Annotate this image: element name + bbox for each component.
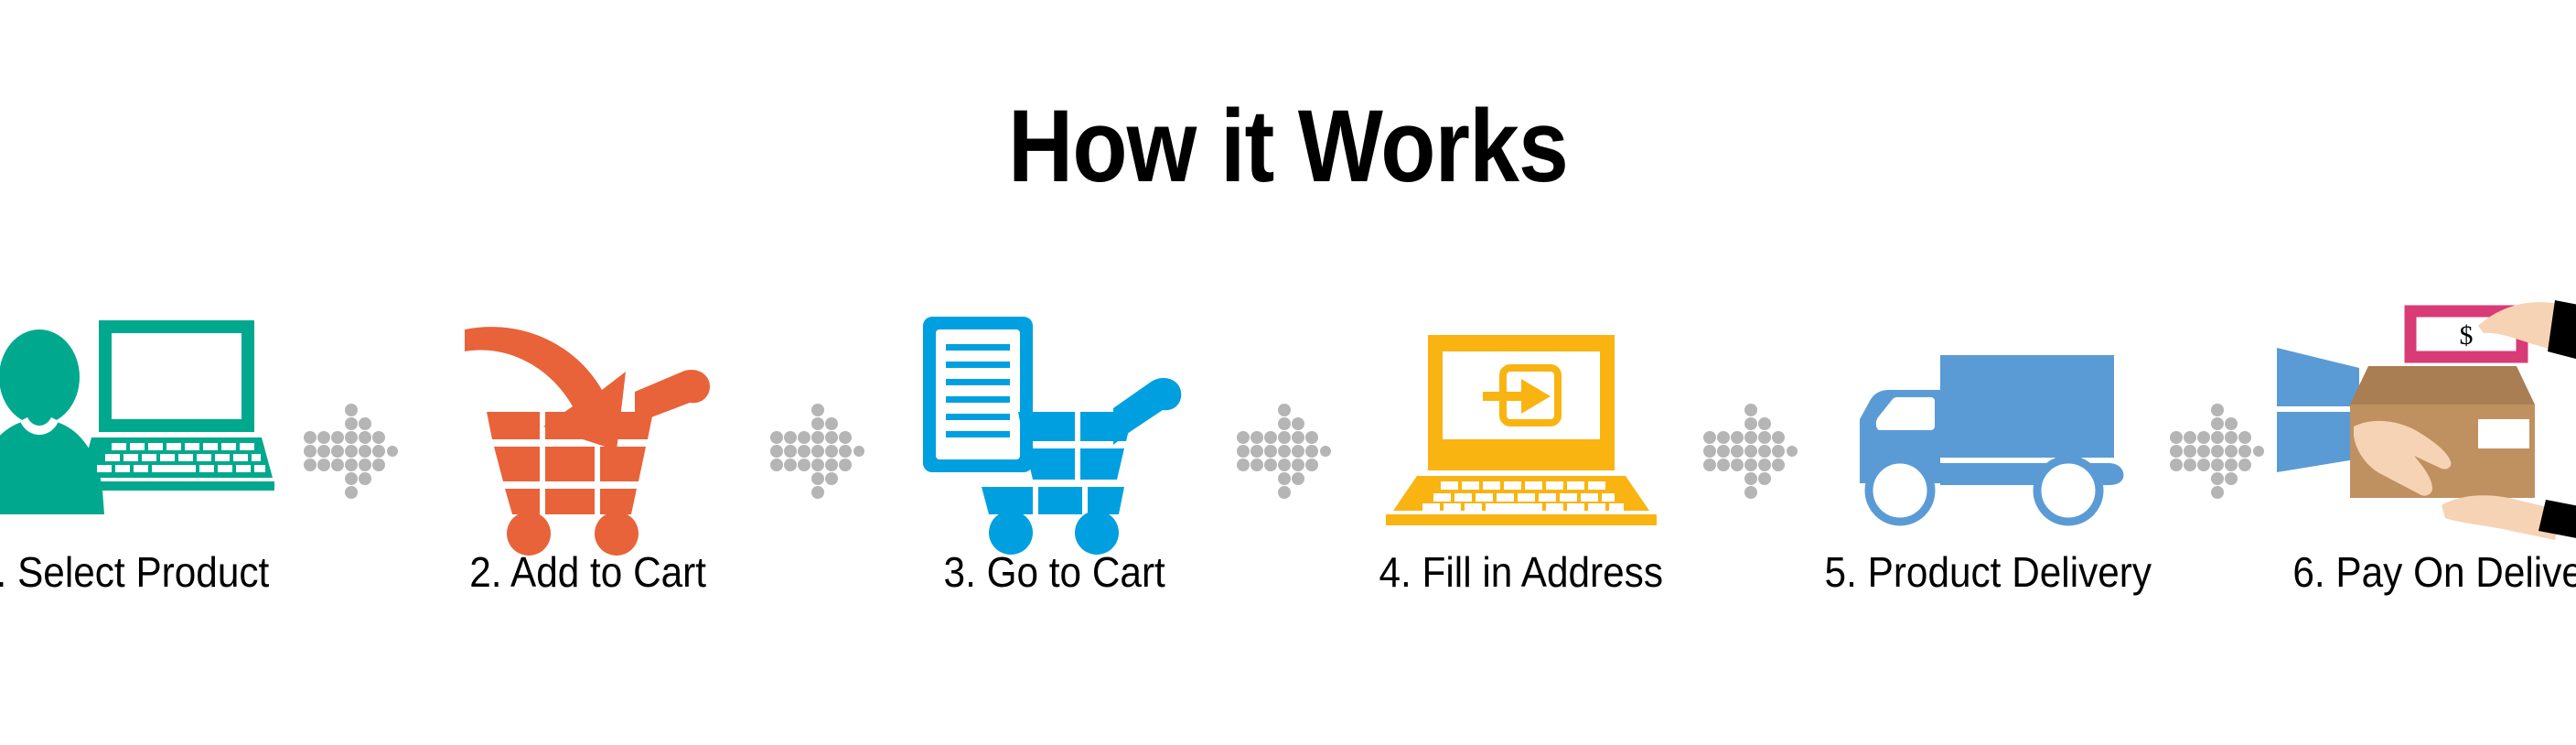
step-3-icon-area — [876, 302, 1233, 540]
box-shipping-label — [2478, 419, 2529, 448]
step-6-icon-area: $ — [2276, 302, 2576, 540]
separator-4 — [1700, 302, 1809, 632]
step-1-label: 1. Select Product — [0, 549, 269, 596]
delivery-truck-icon — [1832, 311, 2143, 540]
page-title: How it Works — [155, 95, 2421, 198]
hands-exchanging-box-and-cash-icon: $ — [2271, 291, 2576, 540]
step-6-pay-on-delivery[interactable]: $ — [2276, 302, 2576, 632]
how-it-works-infographic: How it Works — [0, 0, 2576, 745]
dotted-arrow-right-icon — [2173, 403, 2265, 472]
step-2-add-to-cart[interactable]: 2. Add to Cart — [410, 302, 767, 632]
person-at-laptop-icon — [0, 311, 273, 540]
step-6-label: 6. Pay On Delivery — [2293, 549, 2576, 596]
step-5-product-delivery[interactable]: 5. Product Delivery — [1809, 302, 2166, 632]
step-2-label: 2. Add to Cart — [470, 549, 707, 596]
step-2-icon-area — [410, 302, 767, 540]
step-4-fill-in-address[interactable]: 4. Fill in Address — [1343, 302, 1700, 632]
laptop-login-form-icon — [1375, 311, 1668, 540]
separator-1 — [300, 302, 410, 632]
shopping-cart-with-arrow-icon — [456, 311, 721, 540]
document-and-cart-icon — [918, 311, 1192, 540]
step-1-select-product[interactable]: 1. Select Product — [0, 302, 300, 632]
step-5-icon-area — [1809, 302, 2166, 540]
step-4-icon-area — [1343, 302, 1700, 540]
step-1-icon-area — [0, 302, 300, 540]
banknote-currency-symbol: $ — [2460, 320, 2474, 351]
dotted-arrow-right-icon — [1240, 403, 1332, 472]
step-4-label: 4. Fill in Address — [1379, 549, 1663, 596]
dotted-arrow-right-icon — [307, 403, 399, 472]
steps-row: 1. Select Product — [0, 302, 2576, 632]
step-3-label: 3. Go to Cart — [944, 549, 1165, 596]
dotted-arrow-right-icon — [1707, 403, 1798, 472]
step-5-label: 5. Product Delivery — [1824, 549, 2152, 596]
separator-5 — [2166, 302, 2276, 632]
step-3-go-to-cart[interactable]: 3. Go to Cart — [876, 302, 1233, 632]
separator-3 — [1233, 302, 1343, 632]
dotted-arrow-right-icon — [774, 403, 865, 472]
customer-lower-hand — [2442, 495, 2576, 540]
separator-2 — [767, 302, 876, 632]
